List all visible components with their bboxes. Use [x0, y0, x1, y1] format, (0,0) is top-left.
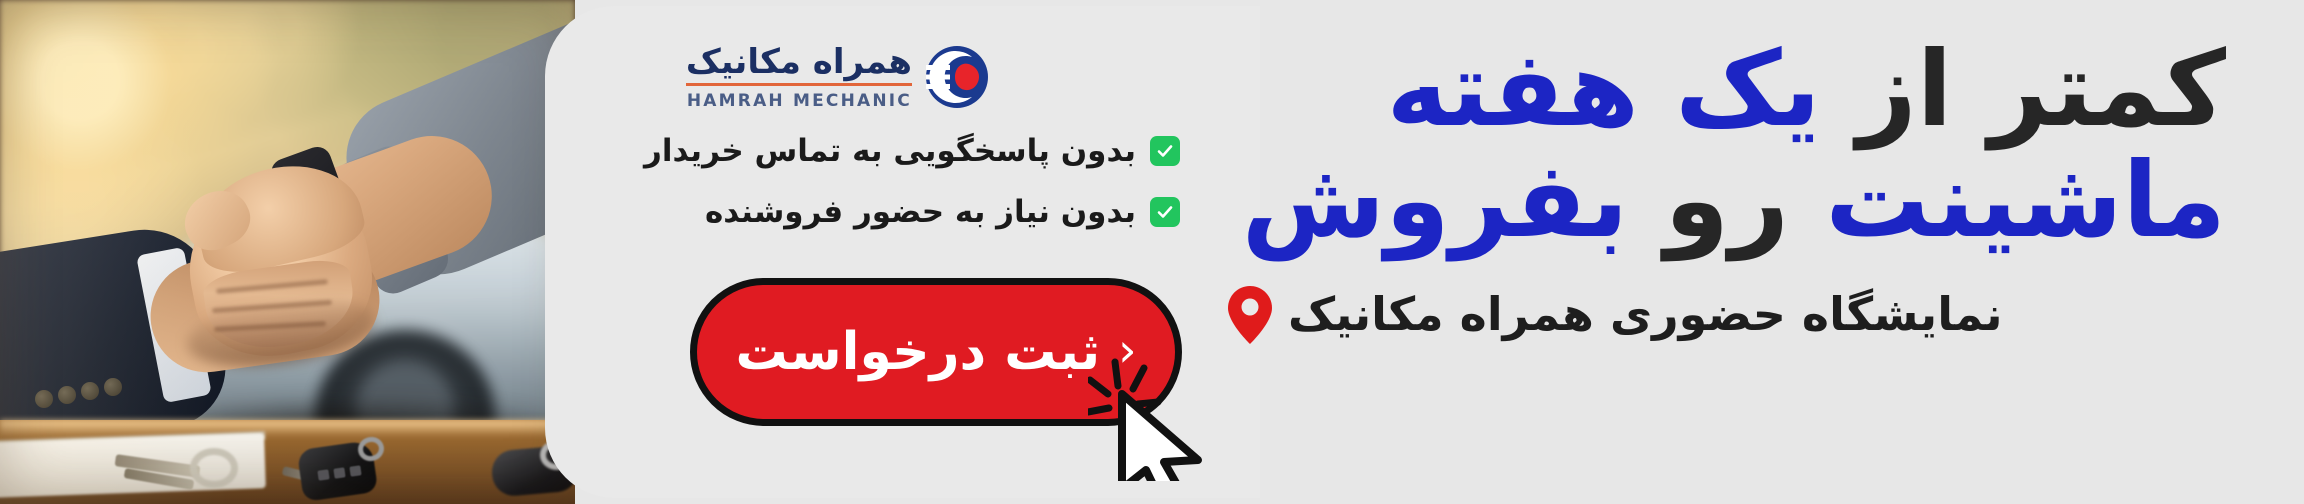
brand-logo-text: همراه مکانیک HAMRAH MECHANIC: [686, 45, 912, 110]
brand-name-persian: همراه مکانیک: [686, 45, 912, 86]
feature-label: بدون نیاز به حضور فروشنده: [705, 193, 1136, 232]
check-icon: [1150, 197, 1180, 227]
cta-container: ‹ ثبت درخواست: [690, 278, 1182, 426]
feature-label: بدون پاسخگویی به تماس خریدار: [644, 132, 1136, 171]
hamrah-mechanic-emblem-icon: [924, 44, 990, 110]
feature-item: بدون پاسخگویی به تماس خریدار: [625, 132, 1180, 171]
subtitle-label: نمایشگاه حضوری همراه مکانیک: [1288, 287, 2003, 342]
handshake-car-deal-photo: [0, 0, 575, 504]
center-card: همراه مکانیک HAMRAH MECHANIC بدون پاسخ: [545, 6, 1260, 498]
headline-line2-blue-end: بفروش: [1242, 139, 1629, 261]
headline-block: کمتر از یک هفته ماشینت رو بفروش نمایشگاه…: [1226, 34, 2226, 345]
photo-vignette: [0, 0, 575, 504]
headline-line2-blue-start: ماشینت: [1825, 139, 2226, 261]
brand-logo: همراه مکانیک HAMRAH MECHANIC: [686, 44, 990, 110]
location-pin-icon: [1226, 285, 1274, 345]
headline-line-2: ماشینت رو بفروش: [1226, 145, 2226, 256]
mouse-pointer-icon: [1088, 356, 1218, 481]
feature-list: بدون پاسخگویی به تماس خریدار بدون نیاز ب…: [625, 132, 1180, 232]
headline-line1-dark: کمتر از: [1857, 28, 2226, 150]
headline-line2-dark: رو: [1665, 139, 1790, 261]
feature-item: بدون نیاز به حضور فروشنده: [625, 193, 1180, 232]
headline-line-1: کمتر از یک هفته: [1226, 34, 2226, 145]
check-icon: [1150, 136, 1180, 166]
subtitle-row: نمایشگاه حضوری همراه مکانیک: [1226, 285, 2226, 345]
headline-line1-blue: یک هفته: [1386, 28, 1820, 150]
submit-request-label: ثبت درخواست: [736, 326, 1101, 378]
brand-name-english: HAMRAH MECHANIC: [686, 93, 912, 110]
promo-banner: همراه مکانیک HAMRAH MECHANIC بدون پاسخ: [0, 0, 2304, 504]
